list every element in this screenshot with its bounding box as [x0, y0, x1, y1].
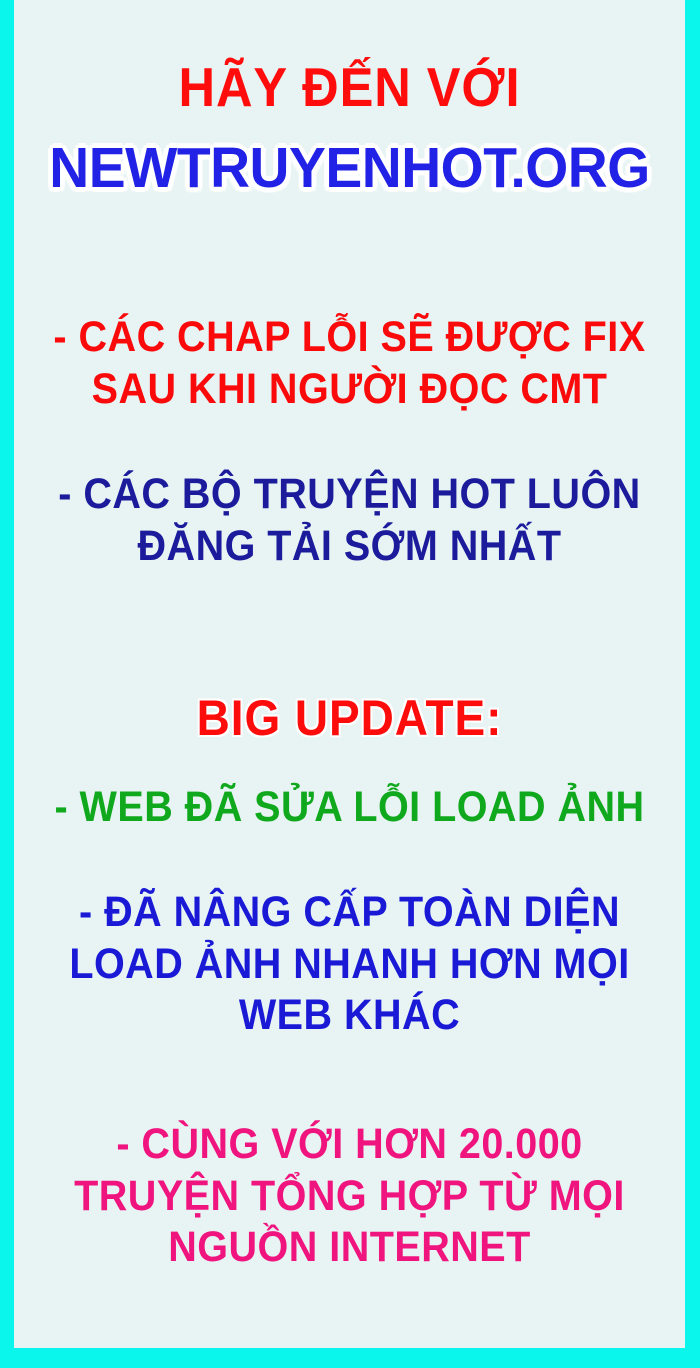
update-line: WEB KHÁC: [41, 993, 658, 1039]
update-line: NGUỒN INTERNET: [41, 1225, 658, 1271]
headline-block: HÃY ĐẾN VỚI NEWTRUYENHOT.ORG: [14, 58, 685, 199]
update-line: - WEB ĐÃ SỬA LỖI LOAD ẢNH: [41, 785, 658, 831]
note-line: - CÁC CHAP LỖI SẼ ĐƯỢC FIX: [41, 315, 658, 361]
update-line: LOAD ẢNH NHANH HƠN MỌI: [41, 942, 658, 988]
big-update-heading: BIG UPDATE:: [41, 692, 658, 745]
update-item-content-count: - CÙNG VỚI HƠN 20.000 TRUYỆN TỔNG HỢP TỪ…: [14, 1122, 685, 1271]
update-line: TRUYỆN TỔNG HỢP TỪ MỌI: [41, 1174, 658, 1220]
announcement-banner: HÃY ĐẾN VỚI NEWTRUYENHOT.ORG - CÁC CHAP …: [0, 0, 700, 1368]
note-hot-series: - CÁC BỘ TRUYỆN HOT LUÔN ĐĂNG TẢI SỚM NH…: [14, 472, 685, 569]
note-fix-chapters: - CÁC CHAP LỖI SẼ ĐƯỢC FIX SAU KHI NGƯỜI…: [14, 315, 685, 412]
note-line: ĐĂNG TẢI SỚM NHẤT: [41, 524, 658, 570]
note-line: - CÁC BỘ TRUYỆN HOT LUÔN: [41, 472, 658, 518]
note-line: SAU KHI NGƯỜI ĐỌC CMT: [41, 367, 658, 413]
update-line: - CÙNG VỚI HƠN 20.000: [41, 1122, 658, 1168]
headline-site-name[interactable]: NEWTRUYENHOT.ORG: [24, 138, 675, 198]
headline-greeting: HÃY ĐẾN VỚI: [41, 58, 658, 116]
update-item-image-load-fix: - WEB ĐÃ SỬA LỖI LOAD ẢNH: [14, 785, 685, 831]
banner-panel: HÃY ĐẾN VỚI NEWTRUYENHOT.ORG - CÁC CHAP …: [14, 0, 685, 1348]
update-item-full-upgrade: - ĐÃ NÂNG CẤP TOÀN DIỆN LOAD ẢNH NHANH H…: [14, 890, 685, 1039]
update-line: - ĐÃ NÂNG CẤP TOÀN DIỆN: [41, 890, 658, 936]
